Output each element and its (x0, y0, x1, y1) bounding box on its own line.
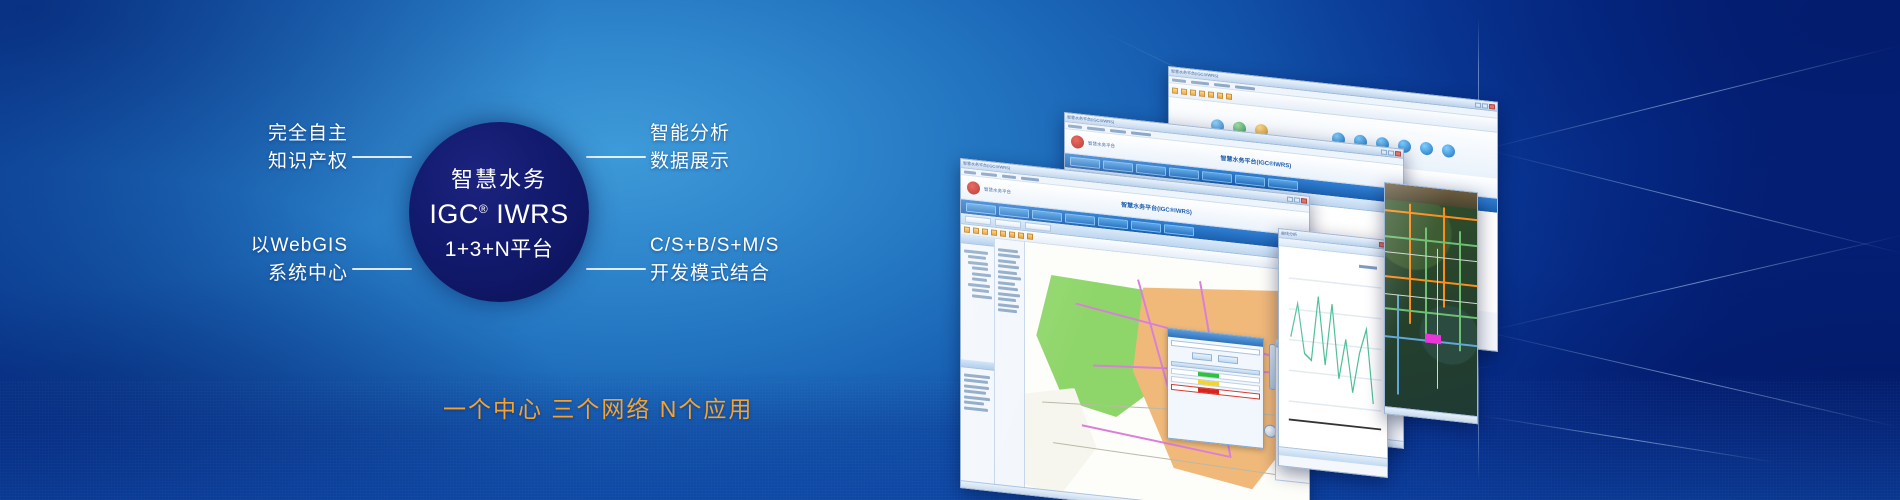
feature-tree-pane[interactable] (995, 239, 1025, 493)
maximize-icon[interactable] (1388, 150, 1394, 156)
dialog-query-button[interactable] (1192, 352, 1212, 361)
feature-top-left-line2: 知识产权 (188, 148, 348, 176)
zone-config-dialog[interactable] (1167, 328, 1264, 449)
feature-top-right-line1: 智能分析 (650, 120, 850, 148)
gis-map-canvas[interactable] (1025, 242, 1309, 500)
feature-bottom-left-line2: 系统中心 (168, 260, 348, 288)
feature-top-right-line2: 数据展示 (650, 148, 850, 176)
feature-tree[interactable] (995, 239, 1024, 320)
badge-en-title: IGC® IWRS (429, 199, 568, 230)
brand-logo-icon (967, 181, 980, 195)
feature-bottom-right: C/S+B/S+M/S 开发模式结合 (650, 232, 870, 288)
center-badge: 智慧水务 IGC® IWRS 1+3+N平台 (409, 122, 589, 302)
line-chart-canvas (1279, 246, 1387, 458)
close-icon[interactable] (1395, 150, 1401, 156)
dialog-reset-button[interactable] (1218, 355, 1238, 364)
feature-bottom-left-line1: 以WebGIS (168, 232, 348, 260)
connector-bottom-right (586, 268, 646, 270)
maximize-icon[interactable] (1482, 103, 1488, 109)
badge-subtitle: 1+3+N平台 (445, 233, 554, 263)
dialog-body (1168, 337, 1263, 405)
feature-bottom-right-line2: 开发模式结合 (650, 260, 870, 288)
window-chart[interactable]: 曲线分析 (1278, 228, 1388, 478)
connector-top-right (586, 156, 646, 158)
feature-top-left: 完全自主 知识产权 (188, 120, 348, 176)
window-satellite[interactable] (1384, 182, 1478, 424)
brand-name: 智慧水务平台 (1088, 140, 1115, 149)
selected-area-marker (1425, 333, 1441, 344)
feature-top-right: 智能分析 数据展示 (650, 120, 850, 176)
window-front-body (961, 235, 1309, 500)
minimize-icon[interactable] (1381, 149, 1387, 155)
badge-en-igc: IGC (429, 199, 479, 229)
layer-tree-pane[interactable] (961, 235, 995, 490)
maximize-icon[interactable] (1294, 197, 1300, 203)
tagline: 一个中心 三个网络 N个应用 (443, 390, 753, 424)
badge-registered-icon: ® (479, 202, 488, 216)
connector-bottom-left (352, 268, 412, 270)
background-texture (0, 380, 1900, 500)
close-icon[interactable] (1301, 198, 1307, 204)
satellite-map-canvas[interactable] (1385, 183, 1477, 416)
layer-tree[interactable] (961, 243, 994, 305)
connector-top-left (352, 156, 412, 158)
window-controls (1475, 102, 1495, 109)
window-front-heading: 智慧水务平台(IGC®IWRS) (1121, 199, 1192, 216)
feature-bottom-left: 以WebGIS 系统中心 (168, 232, 348, 288)
brand-logo-icon (1071, 135, 1084, 149)
brand-name: 智慧水务平台 (984, 186, 1011, 195)
feature-top-left-line1: 完全自主 (188, 120, 348, 148)
badge-cn-title: 智慧水务 (451, 162, 547, 194)
close-icon[interactable] (1489, 103, 1495, 109)
screenshot-stack: 智慧水务平台(IGC®IWRS) (960, 50, 1580, 470)
banner-root: 完全自主 知识产权 智能分析 数据展示 以WebGIS 系统中心 C/S+B/S… (0, 0, 1900, 500)
window-front[interactable]: 智慧水务平台(IGC®IWRS) 智慧水务平台 智慧水务平台(IGC®IWRS) (960, 158, 1310, 500)
attribute-list (961, 367, 994, 418)
badge-en-iwrs: IWRS (496, 199, 569, 229)
window-middle-heading: 智慧水务平台(IGC®IWRS) (1220, 153, 1291, 170)
minimize-icon[interactable] (1287, 196, 1293, 202)
minimize-icon[interactable] (1475, 102, 1481, 108)
feature-bottom-right-line1: C/S+B/S+M/S (650, 232, 870, 260)
